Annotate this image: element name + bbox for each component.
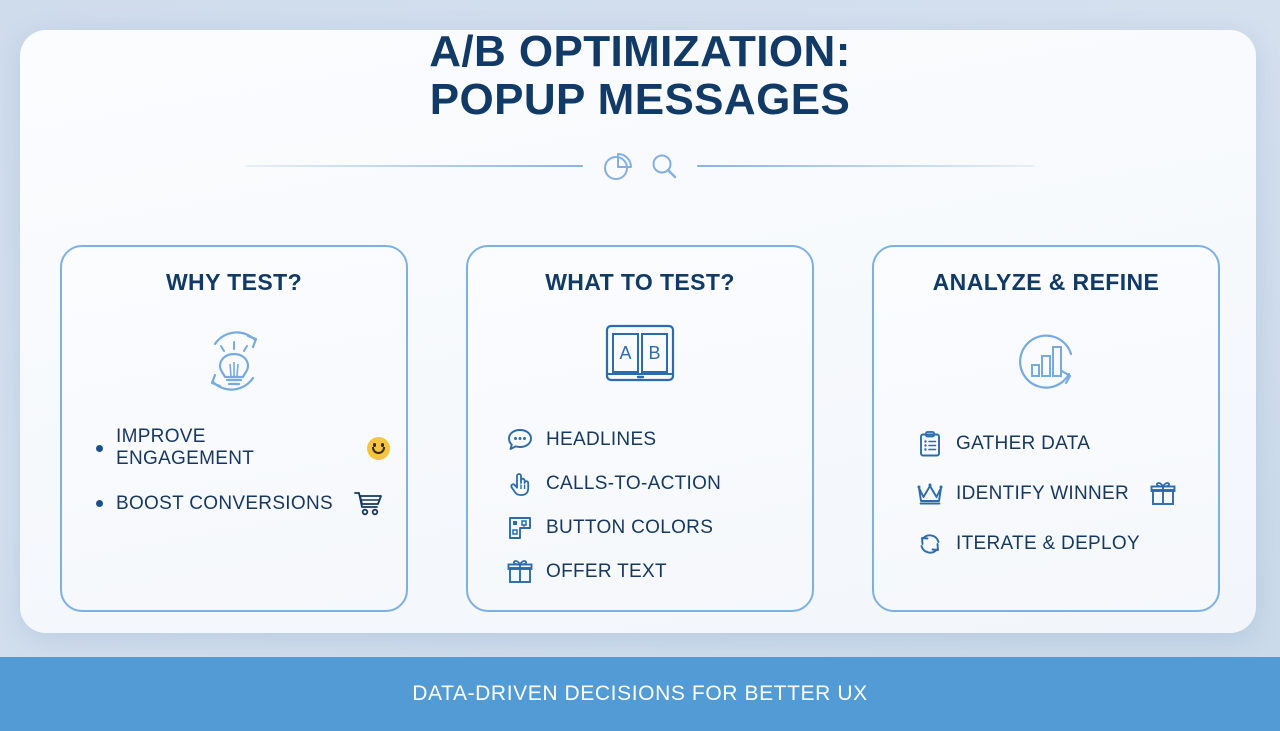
list-item[interactable]: HEADLINES — [506, 426, 796, 454]
lightbulb-refresh-icon — [78, 318, 390, 404]
svg-text:A: A — [619, 343, 631, 363]
search-icon — [649, 149, 679, 183]
list-item-label: ITERATE & DEPLOY — [956, 533, 1140, 555]
list-item[interactable]: CALLS-TO-ACTION — [506, 470, 796, 498]
footer-band: DATA-DRIVEN DECISIONS FOR BETTER UX — [0, 657, 1280, 731]
list-item[interactable]: ITERATE & DEPLOY — [916, 530, 1202, 558]
speech-bubble-icon — [506, 426, 534, 454]
list-item-label: IMPROVE ENGAGEMENT — [116, 426, 347, 470]
list-item-label: CALLS-TO-ACTION — [546, 473, 721, 495]
header: A/B OPTIMIZATION: POPUP MESSAGES — [0, 28, 1280, 183]
list-item-label: GATHER DATA — [956, 433, 1090, 455]
gift-icon — [1150, 481, 1176, 507]
bullet-dot — [96, 500, 103, 507]
bullet-dot — [96, 445, 103, 452]
footer-tagline: DATA-DRIVEN DECISIONS FOR BETTER UX — [412, 682, 867, 706]
page-title-line-1: A/B OPTIMIZATION: — [0, 28, 1280, 76]
crown-icon — [916, 480, 944, 508]
divider-rule-right — [697, 165, 1035, 167]
list-item-label: IDENTIFY WINNER — [956, 483, 1129, 505]
card-list: IMPROVE ENGAGEMENT BOOST CONVERSIONS — [78, 426, 390, 517]
divider-rule-left — [245, 165, 583, 167]
card-list: GATHER DATA IDENTIFY WINNER — [916, 430, 1202, 558]
list-item[interactable]: OFFER TEXT — [506, 558, 796, 586]
bar-chart-circle-icon — [890, 318, 1202, 404]
refresh-icon — [916, 530, 944, 558]
list-item-label: BOOST CONVERSIONS — [116, 493, 333, 515]
divider-icon-group — [601, 149, 679, 183]
list-item[interactable]: GATHER DATA — [916, 430, 1202, 458]
card-title: ANALYZE & REFINE — [890, 269, 1202, 296]
shopping-cart-icon — [353, 490, 383, 517]
page-title-line-2: POPUP MESSAGES — [0, 76, 1280, 124]
list-item[interactable]: BOOST CONVERSIONS — [78, 490, 390, 517]
card-why-test[interactable]: WHY TEST? IMPROVE ENGAGEMENT — [60, 245, 408, 612]
svg-text:B: B — [648, 343, 660, 363]
card-what-to-test[interactable]: WHAT TO TEST? A B — [466, 245, 814, 612]
list-item-label: OFFER TEXT — [546, 561, 667, 583]
card-title: WHY TEST? — [78, 269, 390, 296]
header-divider — [245, 149, 1035, 183]
card-title: WHAT TO TEST? — [484, 269, 796, 296]
list-item[interactable]: IMPROVE ENGAGEMENT — [78, 426, 390, 470]
list-item-label: BUTTON COLORS — [546, 517, 713, 539]
card-analyze-refine[interactable]: ANALYZE & REFINE — [872, 245, 1220, 612]
list-item[interactable]: BUTTON COLORS — [506, 514, 796, 542]
smiley-emoji — [367, 437, 390, 460]
pointing-hand-icon — [506, 470, 534, 498]
pie-chart-icon — [601, 149, 635, 183]
list-item[interactable]: IDENTIFY WINNER — [916, 480, 1202, 508]
clipboard-icon — [916, 430, 944, 458]
page-title: A/B OPTIMIZATION: POPUP MESSAGES — [0, 28, 1280, 123]
card-list: HEADLINES CALLS-TO-ACTION — [506, 426, 796, 586]
color-swatch-icon — [506, 514, 534, 542]
gift-icon — [506, 558, 534, 586]
ab-split-screen-icon: A B — [484, 318, 796, 404]
cards-row: WHY TEST? IMPROVE ENGAGEMENT — [60, 245, 1220, 612]
list-item-label: HEADLINES — [546, 429, 656, 451]
